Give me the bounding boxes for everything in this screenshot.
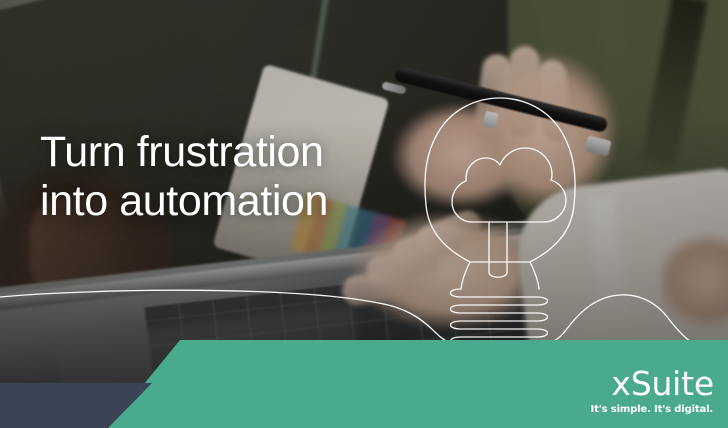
marketing-banner: Turn frustration into automation xSuite … bbox=[0, 0, 728, 428]
xsuite-tagline: It's simple. It's digital. bbox=[591, 403, 713, 416]
xsuite-wordmark: xSuite bbox=[591, 367, 714, 400]
xsuite-logo[interactable]: xSuite It's simple. It's digital. bbox=[591, 367, 714, 416]
page-title: Turn frustration into automation bbox=[40, 128, 328, 226]
